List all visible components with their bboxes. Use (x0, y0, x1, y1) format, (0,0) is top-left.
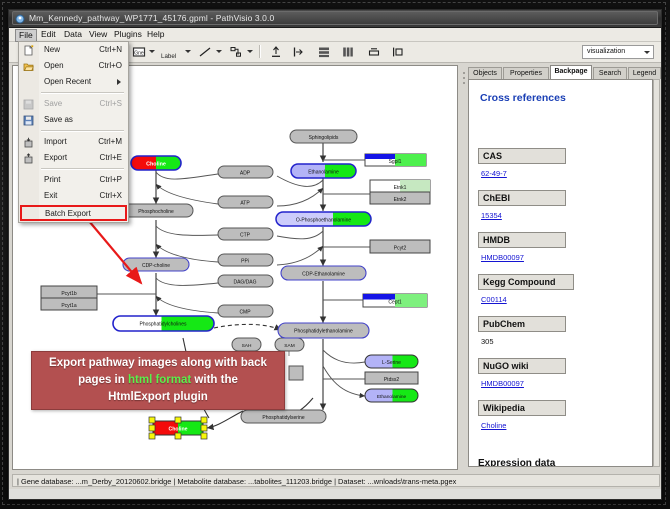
menu-item-batch-export[interactable]: Batch Export (20, 205, 127, 221)
menu-item-save: Save Ctrl+S (19, 96, 128, 112)
menu-separator (41, 92, 124, 94)
new-document-icon (23, 45, 34, 56)
window-title: Mm_Kennedy_pathway_WP1771_45176.gpml - P… (29, 13, 274, 23)
expression-data-title: Expression data (478, 458, 555, 467)
menu-separator-3 (41, 168, 124, 170)
callout-highlight: html format (128, 374, 191, 386)
menu-edit[interactable]: Edit (37, 29, 60, 40)
svg-text:CTP: CTP (240, 232, 251, 238)
svg-text:O-Phosphoethanolamine: O-Phosphoethanolamine (296, 217, 352, 223)
node-phosphatidylserine[interactable]: Phosphatidylserine (241, 410, 326, 423)
stack-vertical-button[interactable] (317, 45, 331, 59)
node-phosphocholine[interactable]: Phosphocholine (119, 204, 193, 217)
node-cdp-ethanolamine[interactable]: CDP-Ethanolamine (281, 266, 366, 280)
node-sphingolipids[interactable]: Sphingolipids (290, 130, 357, 143)
svg-text:Phosphatidylcholines: Phosphatidylcholines (140, 322, 187, 328)
align-top-button[interactable] (269, 45, 283, 59)
import-icon (23, 137, 34, 148)
tab-backpage[interactable]: Backpage (550, 65, 592, 79)
label-button-text: Label (161, 53, 176, 60)
tab-search[interactable]: Search (593, 67, 627, 79)
align-left-button[interactable] (292, 45, 306, 59)
node-ethanolamine[interactable]: Ethanolamine (291, 164, 356, 178)
gene-pcyt1b[interactable]: Pcyt1b (41, 286, 97, 298)
svg-text:Pcyt2: Pcyt2 (394, 245, 407, 251)
svg-text:Phosphatidylethanolamine: Phosphatidylethanolamine (294, 329, 353, 335)
backpage-panel: Cross references CAS 62-49-7 ChEBI 15354… (468, 79, 653, 467)
svg-text:L-Serine: L-Serine (382, 360, 401, 366)
xref-value-hmdb[interactable]: HMDB00097 (481, 253, 524, 262)
node-choline-top[interactable]: Choline (131, 156, 181, 170)
svg-text:Sphingolipids: Sphingolipids (309, 135, 339, 141)
gene-pcyt1a[interactable]: Pcyt1a (41, 298, 97, 310)
gene-ptdss2[interactable]: Ptdss2 (365, 372, 418, 384)
menu-item-save-as[interactable]: Save as (19, 112, 128, 128)
svg-text:Ethanolamine: Ethanolamine (377, 394, 407, 400)
svg-text:CDP-Ethanolamine: CDP-Ethanolamine (302, 271, 345, 277)
menu-separator-2 (41, 130, 124, 132)
node-ethanolamine-lower[interactable]: Ethanolamine (365, 389, 418, 402)
callout-line-2: pages in html format with the (32, 374, 284, 386)
svg-text:CDP-choline: CDP-choline (142, 263, 170, 269)
svg-text:Phosphatidylserine: Phosphatidylserine (262, 415, 304, 421)
toolbar-separator-2 (259, 45, 261, 58)
gene-dropdown-icon[interactable] (149, 50, 155, 53)
file-menu-popup[interactable]: New Ctrl+N Open Ctrl+O Open Recent Save … (18, 41, 129, 223)
menu-item-print[interactable]: Print Ctrl+P (19, 172, 128, 188)
svg-text:SAH: SAH (242, 343, 252, 349)
svg-text:Ethanolamine: Ethanolamine (308, 169, 339, 175)
svg-text:PPi: PPi (241, 258, 249, 264)
node-choline-selected[interactable]: Choline (149, 417, 207, 439)
svg-text:Choline: Choline (146, 162, 166, 168)
svg-text:Cept1: Cept1 (388, 299, 402, 305)
xref-source-wikipedia: Wikipedia (478, 400, 566, 416)
tab-properties[interactable]: Properties (503, 67, 549, 79)
application-window: Mm_Kennedy_pathway_WP1771_45176.gpml - P… (8, 9, 662, 500)
interaction-button[interactable] (229, 45, 243, 59)
svg-text:Etnk2: Etnk2 (394, 197, 407, 203)
svg-text:ATP: ATP (240, 200, 250, 206)
submenu-arrow-icon (117, 79, 121, 85)
line-dropdown-icon[interactable] (216, 50, 222, 53)
node-cdp-choline[interactable]: CDP-choline (123, 258, 189, 271)
menu-data[interactable]: Data (60, 29, 86, 40)
dock-grip-handle[interactable] (461, 67, 467, 465)
menu-bar: File Edit Data View Plugins Help (9, 28, 661, 42)
node-l-serine[interactable]: L-Serine (365, 355, 418, 368)
node-atp[interactable]: ATP (218, 196, 273, 208)
node-cmp[interactable]: CMP (218, 305, 273, 317)
svg-text:Phosphocholine: Phosphocholine (138, 209, 174, 215)
node-phosphatidylcholines[interactable]: Phosphatidylcholines (113, 316, 214, 331)
menu-plugins[interactable]: Plugins (110, 29, 146, 40)
label-button[interactable]: Label (161, 45, 181, 59)
svg-text:CMP: CMP (239, 309, 251, 315)
anchor-block (289, 366, 303, 380)
gene-pcyt2[interactable]: Pcyt2 (370, 240, 430, 253)
menu-help[interactable]: Help (143, 29, 168, 40)
node-adp[interactable]: ADP (218, 166, 273, 178)
pathvisio-icon (15, 14, 25, 24)
svg-text:Choline: Choline (168, 426, 187, 432)
svg-text:Ptdss2: Ptdss2 (384, 377, 400, 383)
cross-references-title: Cross references (480, 92, 566, 104)
gene-etnk1[interactable]: Etnk1 (370, 180, 430, 192)
svg-text:Sgpl1: Sgpl1 (389, 159, 402, 165)
stack-center-button[interactable] (341, 45, 355, 59)
callout-line-1: Export pathway images along with back (32, 357, 284, 369)
visualization-value: visualization (587, 48, 625, 55)
tab-legend[interactable]: Legend (628, 67, 661, 79)
node-ppi[interactable]: PPi (218, 254, 273, 266)
xref-value-kegg[interactable]: C00114 (481, 295, 507, 304)
gene-cept1[interactable]: Cept1 (363, 294, 427, 307)
dock-scrollbar[interactable] (653, 79, 660, 467)
svg-text:DAG/DAG: DAG/DAG (233, 279, 256, 285)
save-as-icon (23, 115, 34, 126)
node-o-phosphoethanolamine[interactable]: O-Phosphoethanolamine (276, 212, 371, 226)
open-folder-icon (23, 61, 34, 72)
svg-text:Gne: Gne (134, 50, 144, 56)
chevron-down-icon (644, 51, 650, 54)
node-phosphatidylethanolamine[interactable]: Phosphatidylethanolamine (278, 323, 369, 338)
xref-source-hmdb: HMDB (478, 232, 566, 248)
menu-item-open[interactable]: Open Ctrl+O (19, 58, 128, 74)
xref-source-chebi: ChEBI (478, 190, 566, 206)
gene-product-button[interactable]: Gne (132, 45, 146, 59)
common-height-button[interactable] (391, 45, 405, 59)
interaction-dropdown-icon[interactable] (247, 50, 253, 53)
gene-sgpl1[interactable]: Sgpl1 (365, 154, 426, 166)
callout-line-3: HtmlExport plugin (32, 391, 284, 403)
node-dag[interactable]: DAG/DAG (218, 275, 273, 287)
export-icon (23, 153, 34, 164)
side-dock: Objects Properties Backpage Search Legen… (461, 65, 660, 470)
xref-source-pubchem: PubChem (478, 316, 566, 332)
xref-value-nugo[interactable]: HMDB00097 (481, 379, 524, 388)
xref-value-cas[interactable]: 62-49-7 (481, 169, 507, 178)
xref-value-pubchem: 305 (481, 337, 494, 346)
xref-source-kegg: Kegg Compound (478, 274, 574, 290)
label-dropdown-icon[interactable] (185, 50, 191, 53)
node-ctp[interactable]: CTP (218, 228, 273, 240)
status-bar: | Gene database: ...m_Derby_20120602.bri… (12, 474, 660, 487)
menu-view[interactable]: View (85, 29, 111, 40)
svg-text:Pcyt1b: Pcyt1b (61, 291, 77, 297)
svg-text:ADP: ADP (240, 170, 251, 176)
xref-value-chebi[interactable]: 15354 (481, 211, 502, 220)
xref-source-cas: CAS (478, 148, 566, 164)
annotation-callout: Export pathway images along with back pa… (31, 351, 285, 410)
title-bar: Mm_Kennedy_pathway_WP1771_45176.gpml - P… (9, 10, 661, 28)
svg-text:Etnk1: Etnk1 (394, 185, 407, 191)
status-bar-text: | Gene database: ...m_Derby_20120602.bri… (17, 477, 456, 486)
common-width-button[interactable] (367, 45, 381, 59)
menu-item-import[interactable]: Import Ctrl+M (19, 134, 128, 150)
menu-item-export[interactable]: Export Ctrl+E (19, 150, 128, 166)
menu-item-open-recent[interactable]: Open Recent (19, 74, 128, 90)
node-sam[interactable]: SAM (275, 338, 304, 351)
node-sah[interactable]: SAH (232, 338, 261, 351)
svg-text:SAM: SAM (284, 343, 294, 349)
tab-objects[interactable]: Objects (468, 67, 502, 79)
dock-tabs: Objects Properties Backpage Search Legen… (468, 65, 660, 79)
gene-etnk2[interactable]: Etnk2 (370, 192, 430, 204)
visualization-combobox[interactable]: visualization (582, 45, 654, 59)
menu-item-exit[interactable]: Exit Ctrl+X (19, 188, 128, 204)
menu-item-new[interactable]: New Ctrl+N (19, 42, 128, 58)
callout-line-2b: with the (191, 374, 238, 386)
xref-value-wikipedia[interactable]: Choline (481, 421, 506, 430)
line-button[interactable] (198, 45, 212, 59)
xref-source-nugo: NuGO wiki (478, 358, 566, 374)
batch-export-label: Batch Export (45, 209, 91, 218)
callout-line-2a: pages in (78, 374, 128, 386)
svg-text:Pcyt1a: Pcyt1a (61, 303, 77, 309)
save-disk-icon (23, 99, 34, 110)
